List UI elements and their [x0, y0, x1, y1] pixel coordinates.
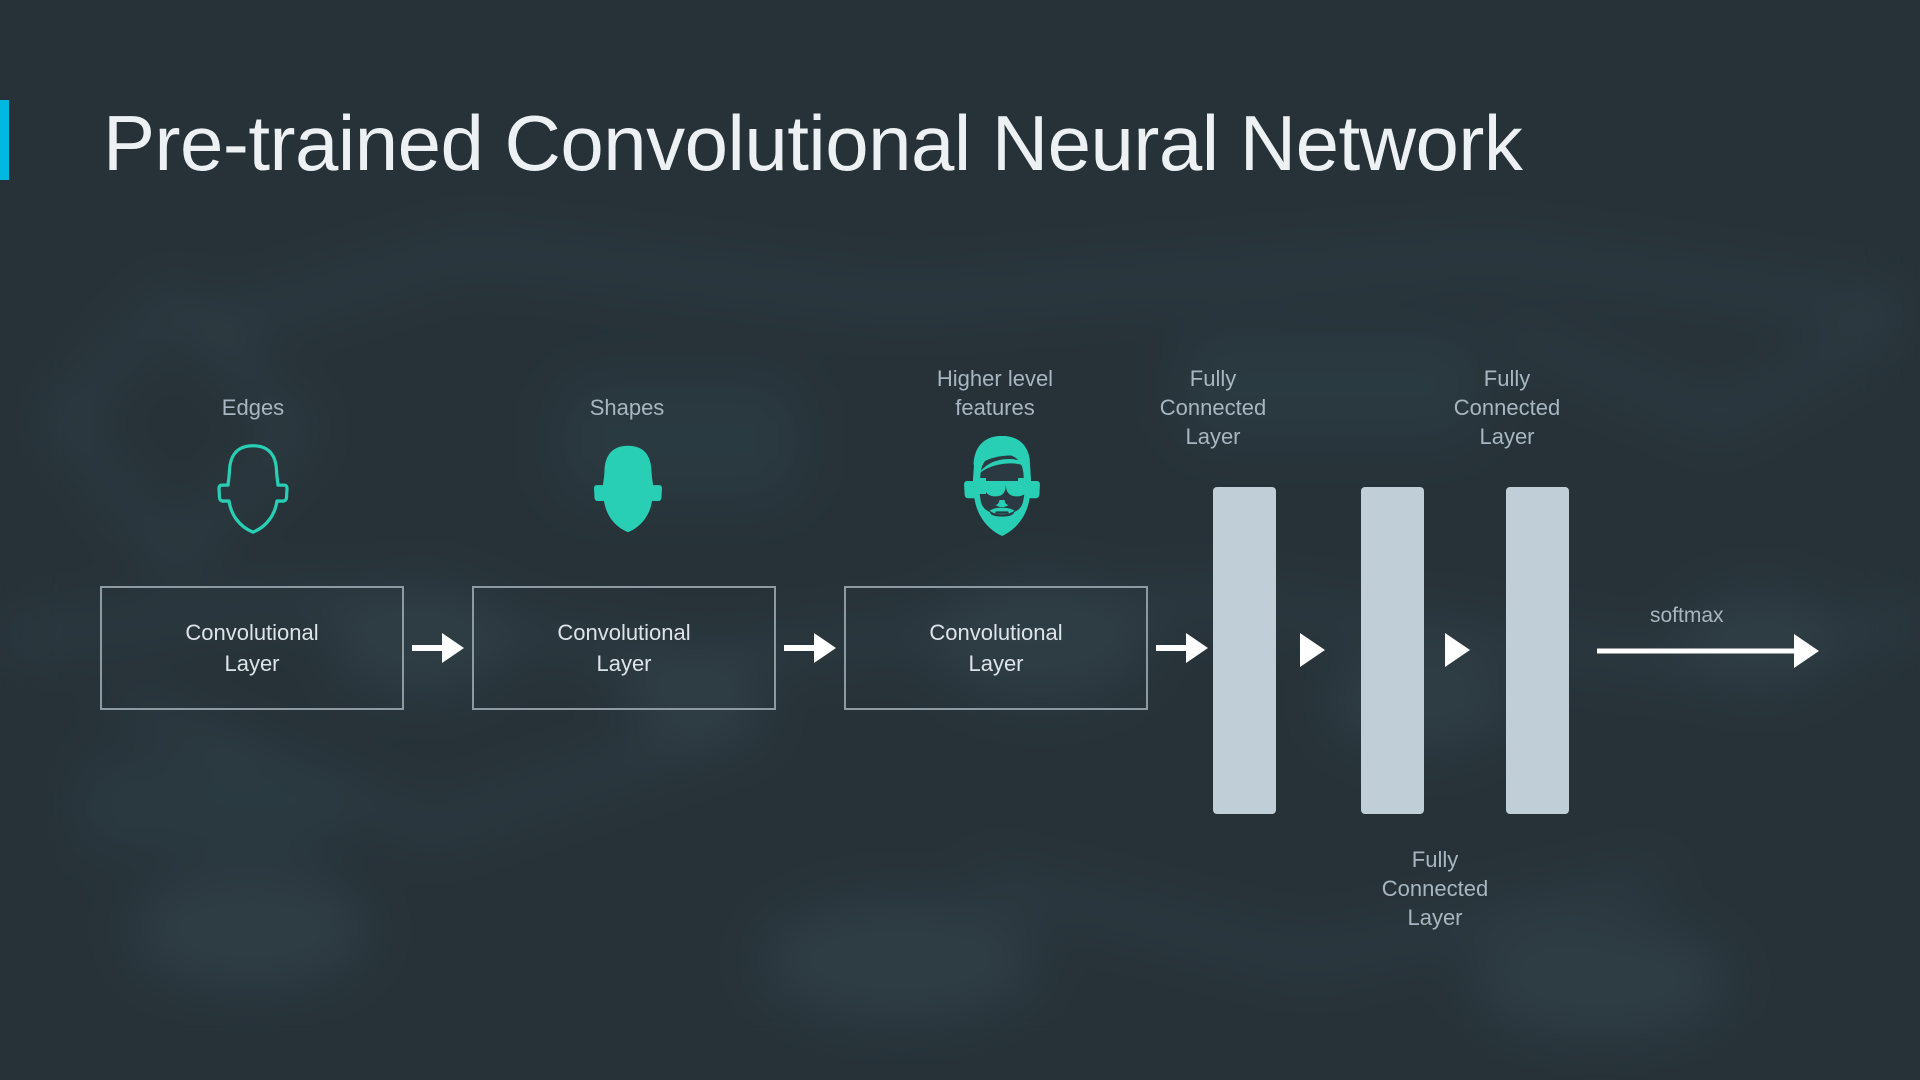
face-filled-icon — [580, 440, 676, 536]
stage-label-shapes: Shapes — [527, 393, 727, 422]
face-detailed-icon — [952, 434, 1052, 538]
arrow-head — [1186, 633, 1208, 663]
face-outline-icon — [205, 440, 301, 536]
arrow-head — [442, 633, 464, 663]
face-outline-icon-slot — [205, 440, 301, 536]
fc-layer-bar-1[interactable] — [1213, 487, 1276, 814]
face-filled-icon-slot — [580, 440, 676, 536]
face-detailed-icon-slot — [952, 434, 1052, 538]
softmax-arrow — [1597, 636, 1819, 666]
arrow-shaft — [1156, 645, 1190, 651]
fc-layer-bar-2[interactable] — [1361, 487, 1424, 814]
arrow-shaft — [1597, 649, 1801, 654]
dense-layer-label-3: Fully Connected Layer — [1432, 364, 1582, 451]
flow-arrow-2 — [784, 633, 836, 663]
arrow-head — [1794, 634, 1819, 668]
dense-layer-label-2: Fully Connected Layer — [1360, 845, 1510, 932]
dense-layer-label-1: Fully Connected Layer — [1138, 364, 1288, 451]
stage-label-higher-level-features: Higher level features — [885, 364, 1105, 422]
conv-layer-box-2[interactable]: Convolutional Layer — [472, 586, 776, 710]
accent-bar — [0, 100, 9, 180]
conv-layer-box-1[interactable]: Convolutional Layer — [100, 586, 404, 710]
page-title: Pre-trained Convolutional Neural Network — [103, 104, 1522, 182]
flow-triangle-1 — [1300, 633, 1325, 667]
stage-label-edges: Edges — [153, 393, 353, 422]
flow-arrow-3 — [1156, 633, 1208, 663]
softmax-label: softmax — [1650, 604, 1724, 628]
flow-triangle-2 — [1445, 633, 1470, 667]
fc-layer-bar-3[interactable] — [1506, 487, 1569, 814]
flow-arrow-1 — [412, 633, 464, 663]
conv-layer-box-3[interactable]: Convolutional Layer — [844, 586, 1148, 710]
arrow-head — [814, 633, 836, 663]
arrow-shaft — [784, 645, 818, 651]
arrow-shaft — [412, 645, 446, 651]
